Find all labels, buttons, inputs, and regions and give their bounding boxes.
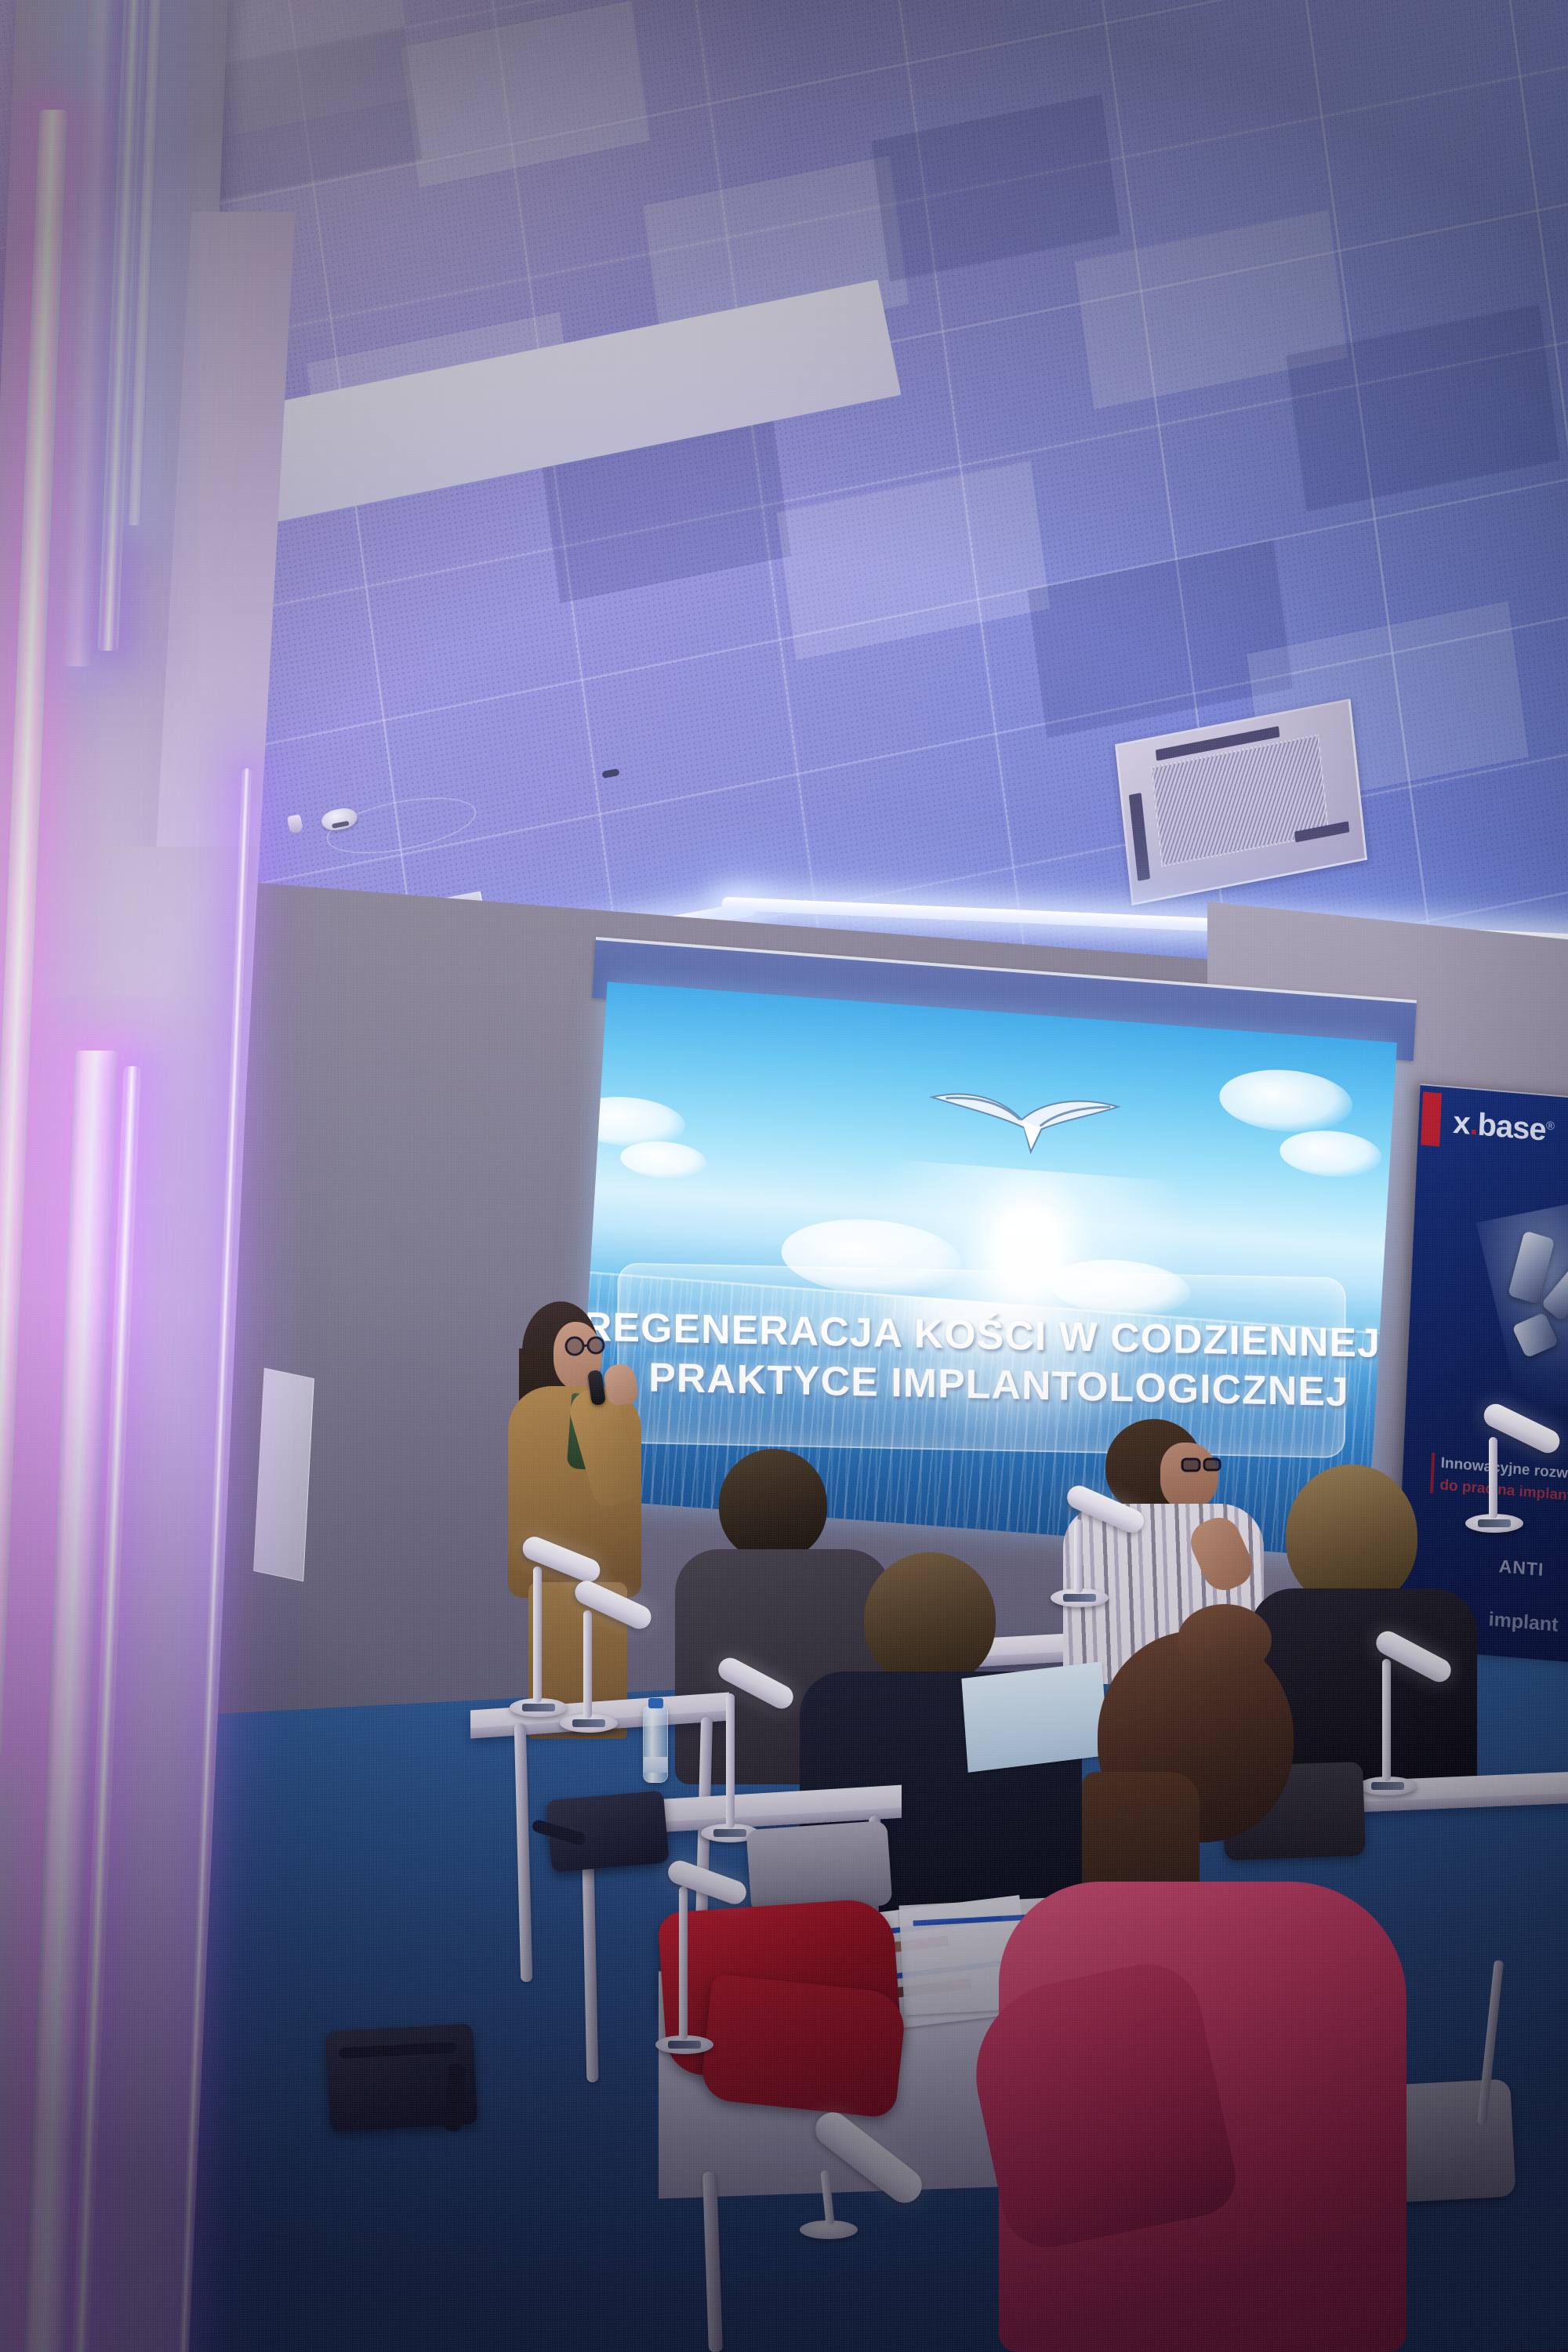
water-bottle [643, 1706, 668, 1783]
attendee-face [1160, 1443, 1218, 1510]
attendee-blonde-hair [1286, 1465, 1417, 1607]
attendee-hair-bun-top [1178, 1604, 1272, 1676]
desk-lamp [792, 2085, 933, 2242]
seagull-icon [922, 1069, 1131, 1178]
whiteboard [253, 1368, 314, 1582]
desk-lamp [1454, 1415, 1548, 1533]
glasses-icon [1181, 1457, 1223, 1474]
cloud [1218, 1065, 1354, 1137]
desk-lamp [651, 1866, 753, 2054]
attendee-pink-top [972, 1631, 1411, 2352]
chair [746, 1820, 892, 1915]
attendee-hair [719, 1449, 827, 1560]
glasses-icon [563, 1336, 607, 1356]
cloud [619, 1138, 707, 1181]
cloud [1278, 1127, 1382, 1181]
desk-lamp [690, 1670, 792, 1842]
backpack [546, 1791, 669, 1873]
desk-lamp [549, 1592, 643, 1733]
backpack [325, 2024, 477, 2132]
conference-room-scene: REGENERACJA KOŚCI W CODZIENNEJ PRAKTYCE … [0, 0, 1568, 2352]
